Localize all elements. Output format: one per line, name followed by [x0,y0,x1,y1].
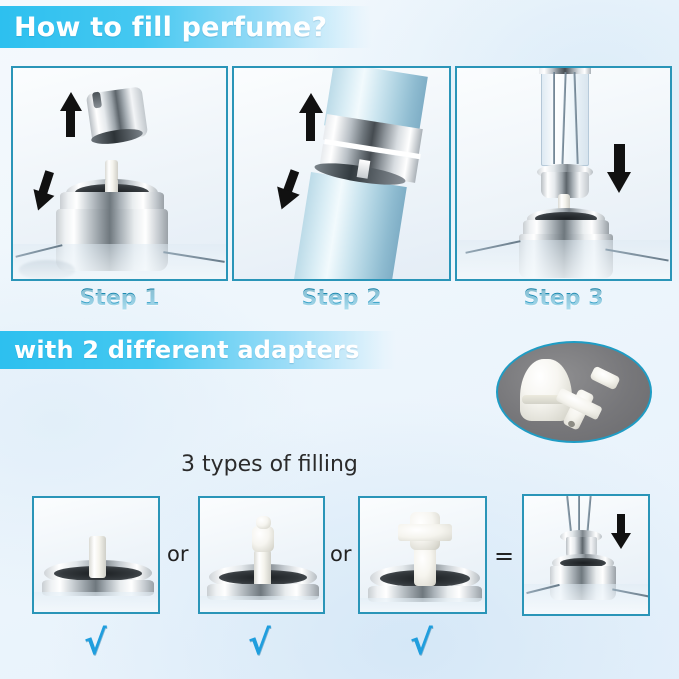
adapter-cross-stem [414,546,436,586]
arrow-down-head [270,186,299,213]
adapter-small-tip [256,516,271,529]
arrow-down-head [607,172,631,193]
arrow-up-head [60,92,82,111]
step3-caption: Step 3 [455,286,672,314]
check-icon-1: √ [84,623,107,663]
atomizer-lower-body [293,172,406,281]
inner-tube-1 [566,496,572,532]
adapter-small [252,526,274,552]
step3-photo [455,66,672,281]
check-icon-2: √ [248,623,271,663]
adapters-banner-label: with 2 different adapters [14,336,360,364]
connector-or-1: or [167,542,188,566]
step1-caption: Step 1 [11,286,228,314]
adapter-spool-tip [589,366,620,391]
filling-result [522,494,650,616]
inner-tube-1 [553,72,555,164]
adapters-photo [496,341,652,443]
page-title: How to fill perfume? [14,12,327,43]
adapter-cross-arms [398,524,452,541]
adapters-banner: with 2 different adapters [0,331,396,369]
infographic-page: How to fill perfume? [0,0,679,679]
page-title-banner: How to fill perfume? [0,6,372,48]
step2-photo [232,66,451,281]
arrow-up-icon [66,108,75,137]
inner-tube-3 [586,496,591,532]
nozzle [89,536,106,578]
step1-photo [11,66,228,281]
arrow-up-icon [306,110,315,141]
arrow-down-head [28,189,55,214]
bottle-glass [360,598,485,614]
nozzle [254,550,271,588]
arrow-up-head [299,93,323,113]
inner-tube-2 [578,496,580,532]
filling-type-3 [358,496,487,614]
bottle-glass [200,596,323,614]
filling-types-title: 3 types of filling [181,452,358,477]
filling-type-1 [32,496,160,614]
step2-caption: Step 2 [232,286,451,314]
bottle-reflection [19,260,75,280]
bottle-glass [34,592,158,614]
check-icon-3: √ [410,623,433,663]
connector-or-2: or [330,542,351,566]
arrow-down-head [611,533,631,549]
filling-type-2 [198,496,325,614]
connector-equals: = [494,542,514,570]
